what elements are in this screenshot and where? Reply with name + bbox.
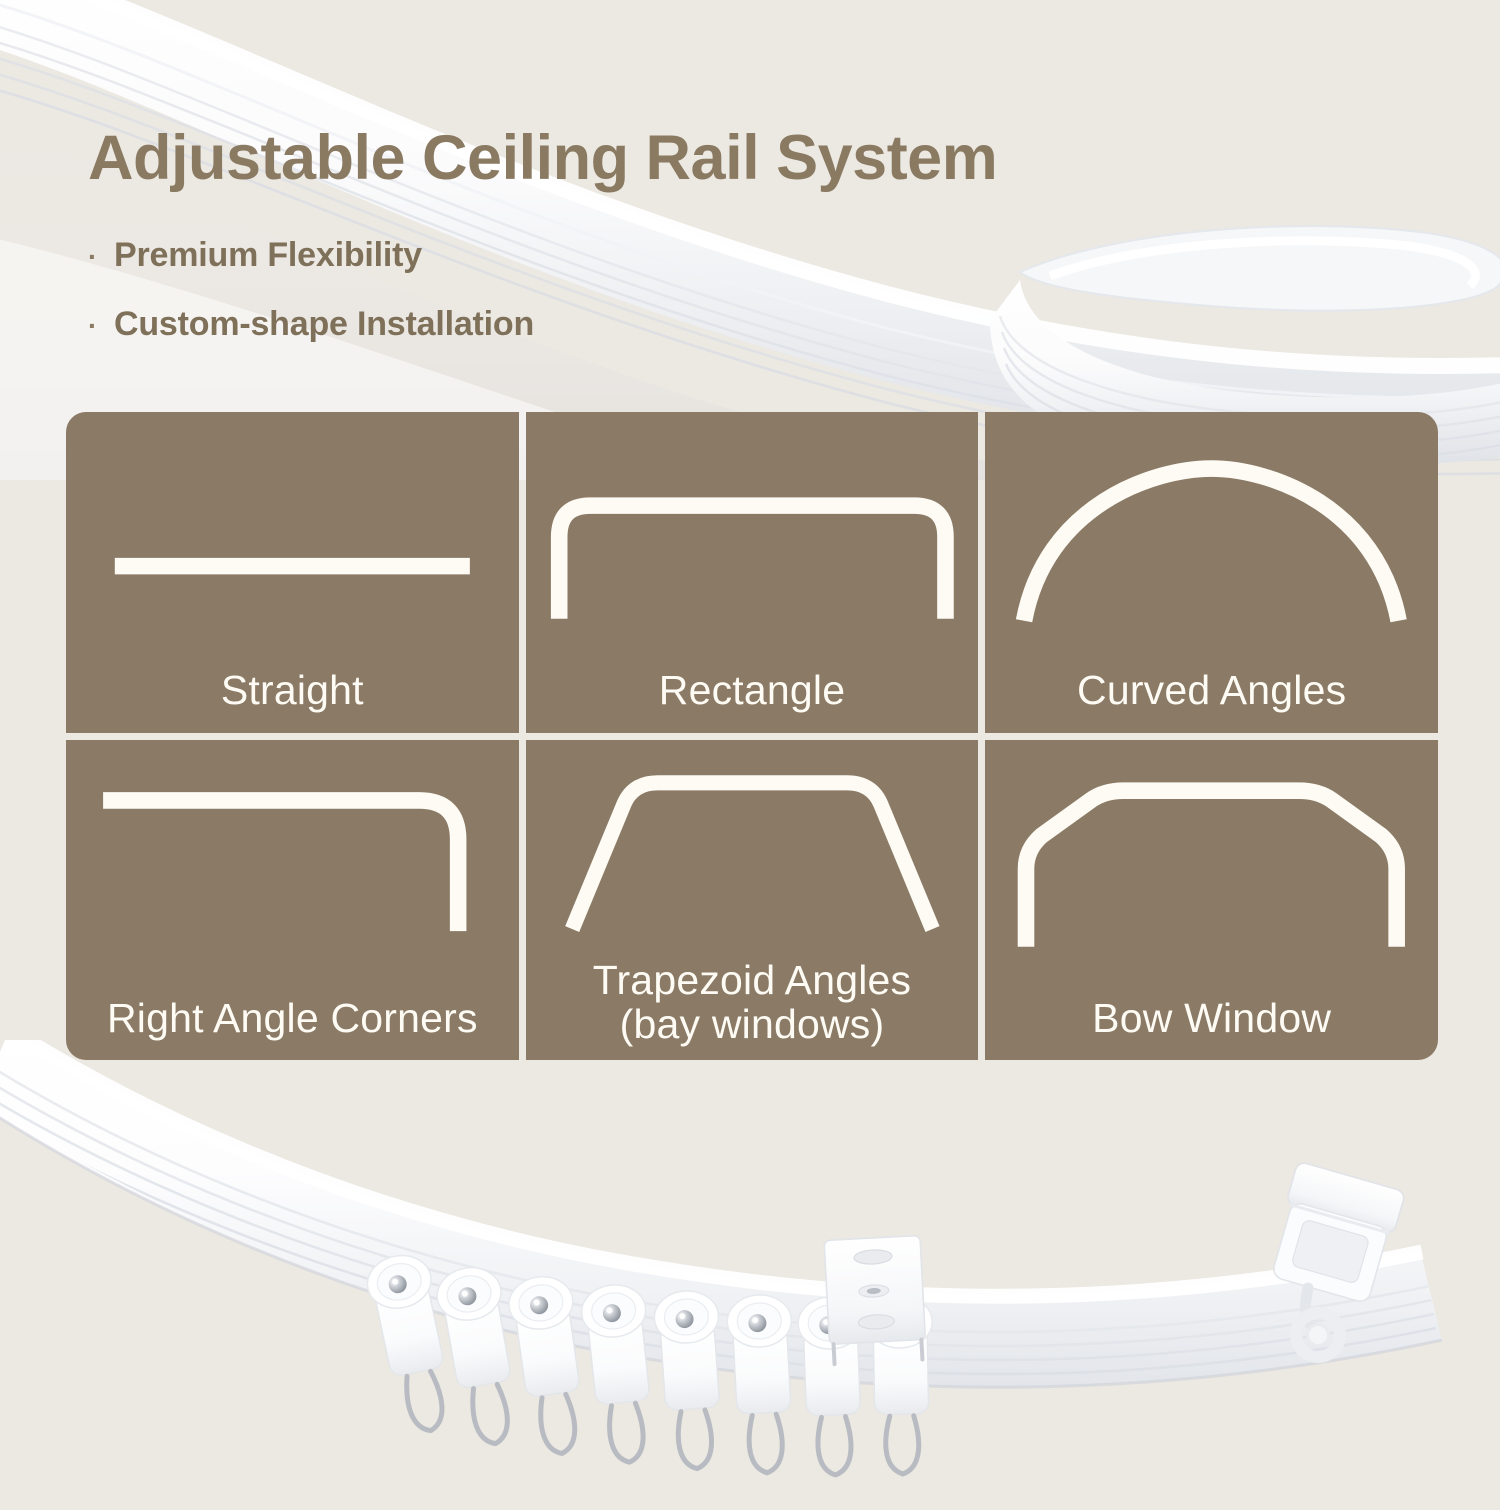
shape-tile-rectangle-label: Rectangle bbox=[526, 669, 979, 712]
shape-options-grid: Straight Rectangle Curved Angles bbox=[66, 412, 1438, 1060]
shape-tile-rectangle[interactable]: Rectangle bbox=[526, 412, 979, 733]
shape-tile-curved-angles[interactable]: Curved Angles bbox=[985, 412, 1438, 733]
straight-shape-icon bbox=[66, 412, 519, 636]
shape-tile-right-angle-corners-label: Right Angle Corners bbox=[66, 997, 519, 1040]
bullet-marker-icon: · bbox=[88, 312, 114, 340]
shape-tile-bow-window-label: Bow Window bbox=[985, 997, 1438, 1040]
shape-tile-straight-label: Straight bbox=[66, 669, 519, 712]
mounting-bracket bbox=[824, 1235, 926, 1364]
shape-tile-right-angle-corners[interactable]: Right Angle Corners bbox=[66, 740, 519, 1061]
page-title: Adjustable Ceiling Rail System bbox=[88, 126, 1318, 190]
headline-block: Adjustable Ceiling Rail System · Premium… bbox=[88, 126, 1318, 344]
shape-tile-trapezoid-angles[interactable]: Trapezoid Angles (bay windows) bbox=[526, 740, 979, 1061]
bullet-marker-icon: · bbox=[88, 243, 114, 271]
right-angle-corners-shape-icon bbox=[66, 740, 519, 964]
shape-tile-straight[interactable]: Straight bbox=[66, 412, 519, 733]
end-stop-cap bbox=[1266, 1161, 1406, 1305]
end-hook-eyelet bbox=[1296, 1288, 1340, 1357]
shape-tile-trapezoid-angles-sublabel: (bay windows) bbox=[534, 1003, 971, 1046]
feature-bullet-2-label: Custom-shape Installation bbox=[114, 305, 534, 344]
shape-tile-trapezoid-angles-label: Trapezoid Angles (bay windows) bbox=[526, 959, 979, 1046]
roller-carriers bbox=[363, 1250, 935, 1476]
shape-tile-bow-window[interactable]: Bow Window bbox=[985, 740, 1438, 1061]
feature-bullet-1-label: Premium Flexibility bbox=[114, 236, 422, 275]
trapezoid-angles-shape-icon bbox=[526, 740, 979, 945]
bow-window-shape-icon bbox=[985, 740, 1438, 964]
shape-tile-curved-angles-label: Curved Angles bbox=[985, 669, 1438, 712]
curved-angles-shape-icon bbox=[985, 412, 1438, 636]
bottom-product-photo bbox=[0, 1040, 1500, 1510]
rectangle-shape-icon bbox=[526, 412, 979, 636]
feature-bullet-2: · Custom-shape Installation bbox=[88, 305, 1318, 344]
shape-tile-trapezoid-angles-title: Trapezoid Angles bbox=[593, 957, 912, 1003]
feature-bullet-1: · Premium Flexibility bbox=[88, 236, 1318, 275]
